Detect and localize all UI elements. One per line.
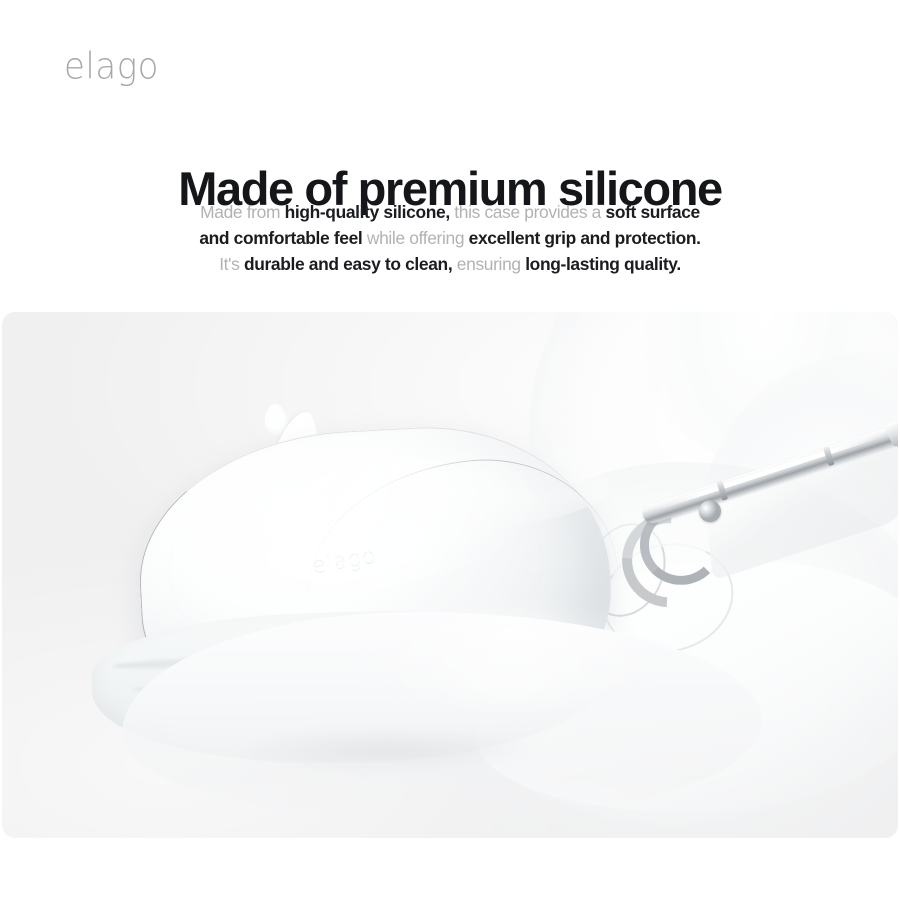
body-copy-run: this case provides a xyxy=(450,202,606,222)
body-copy-line-3: It's durable and easy to clean, ensuring… xyxy=(0,251,900,277)
elago-logo: elago xyxy=(64,49,159,85)
body-copy-run: ensuring xyxy=(452,254,525,274)
product-sheen-bottom xyxy=(362,612,662,702)
body-copy-run: Made from xyxy=(200,202,284,222)
body-copy-run: durable and easy to clean, xyxy=(244,254,452,274)
body-copy: Made from high-quality silicone, this ca… xyxy=(0,199,900,277)
product-photo: elago xyxy=(2,312,898,838)
body-copy-line-1: Made from high-quality silicone, this ca… xyxy=(0,199,900,225)
body-copy-run: while offering xyxy=(362,228,468,248)
body-copy-run: excellent grip and protection. xyxy=(469,228,701,248)
body-copy-run: high-quality silicone, xyxy=(285,202,450,222)
product-contact-shadow xyxy=(172,720,602,780)
body-copy-run: It's xyxy=(219,254,244,274)
product-feature-page: elago Made of premium silicone Made from… xyxy=(0,0,900,900)
body-copy-run: soft surface xyxy=(606,202,700,222)
body-copy-run: and comfortable feel xyxy=(199,228,362,248)
body-copy-line-2: and comfortable feel while offering exce… xyxy=(0,225,900,251)
body-copy-run: long-lasting quality. xyxy=(525,254,681,274)
product-image-panel: elago xyxy=(2,312,898,838)
brand-logo-wrap: elago xyxy=(64,46,159,88)
